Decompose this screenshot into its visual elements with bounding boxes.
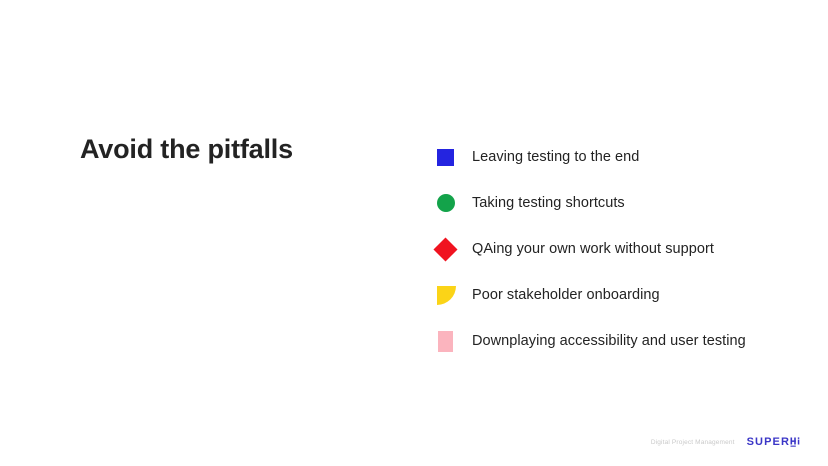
list-item: Taking testing shortcuts [432, 180, 802, 226]
list-item-label: Leaving testing to the end [472, 147, 639, 167]
bullet-container [432, 188, 472, 218]
presentation-slide: Avoid the pitfalls Leaving testing to th… [0, 0, 828, 466]
blue-square-bullet-icon [437, 149, 454, 166]
green-circle-bullet-icon [437, 194, 455, 212]
slide-footer: Digital Project Management SUPER [651, 436, 802, 448]
superhi-hi-mark-icon [790, 436, 802, 448]
bullet-container [432, 142, 472, 172]
list-item: Leaving testing to the end [432, 134, 802, 180]
list-item: QAing your own work without support [432, 226, 802, 272]
red-diamond-bullet-icon [433, 237, 457, 261]
list-item-label: Poor stakeholder onboarding [472, 285, 660, 305]
footer-course-name: Digital Project Management [651, 439, 735, 446]
bullet-container [432, 280, 472, 310]
bullet-container [432, 234, 472, 264]
logo-wordmark: SUPER [747, 436, 790, 448]
list-item-label: QAing your own work without support [472, 239, 714, 259]
list-item: Poor stakeholder onboarding [432, 272, 802, 318]
page-title: Avoid the pitfalls [80, 132, 293, 166]
list-item-label: Downplaying accessibility and user testi… [472, 331, 746, 351]
superhi-logo: SUPER [747, 436, 802, 448]
yellow-quarter-circle-bullet-icon [437, 286, 456, 305]
list-item: Downplaying accessibility and user testi… [432, 318, 802, 364]
bullet-container [432, 326, 472, 356]
pink-rectangle-bullet-icon [438, 331, 453, 352]
pitfall-list: Leaving testing to the end Taking testin… [432, 134, 802, 364]
list-item-label: Taking testing shortcuts [472, 193, 625, 213]
